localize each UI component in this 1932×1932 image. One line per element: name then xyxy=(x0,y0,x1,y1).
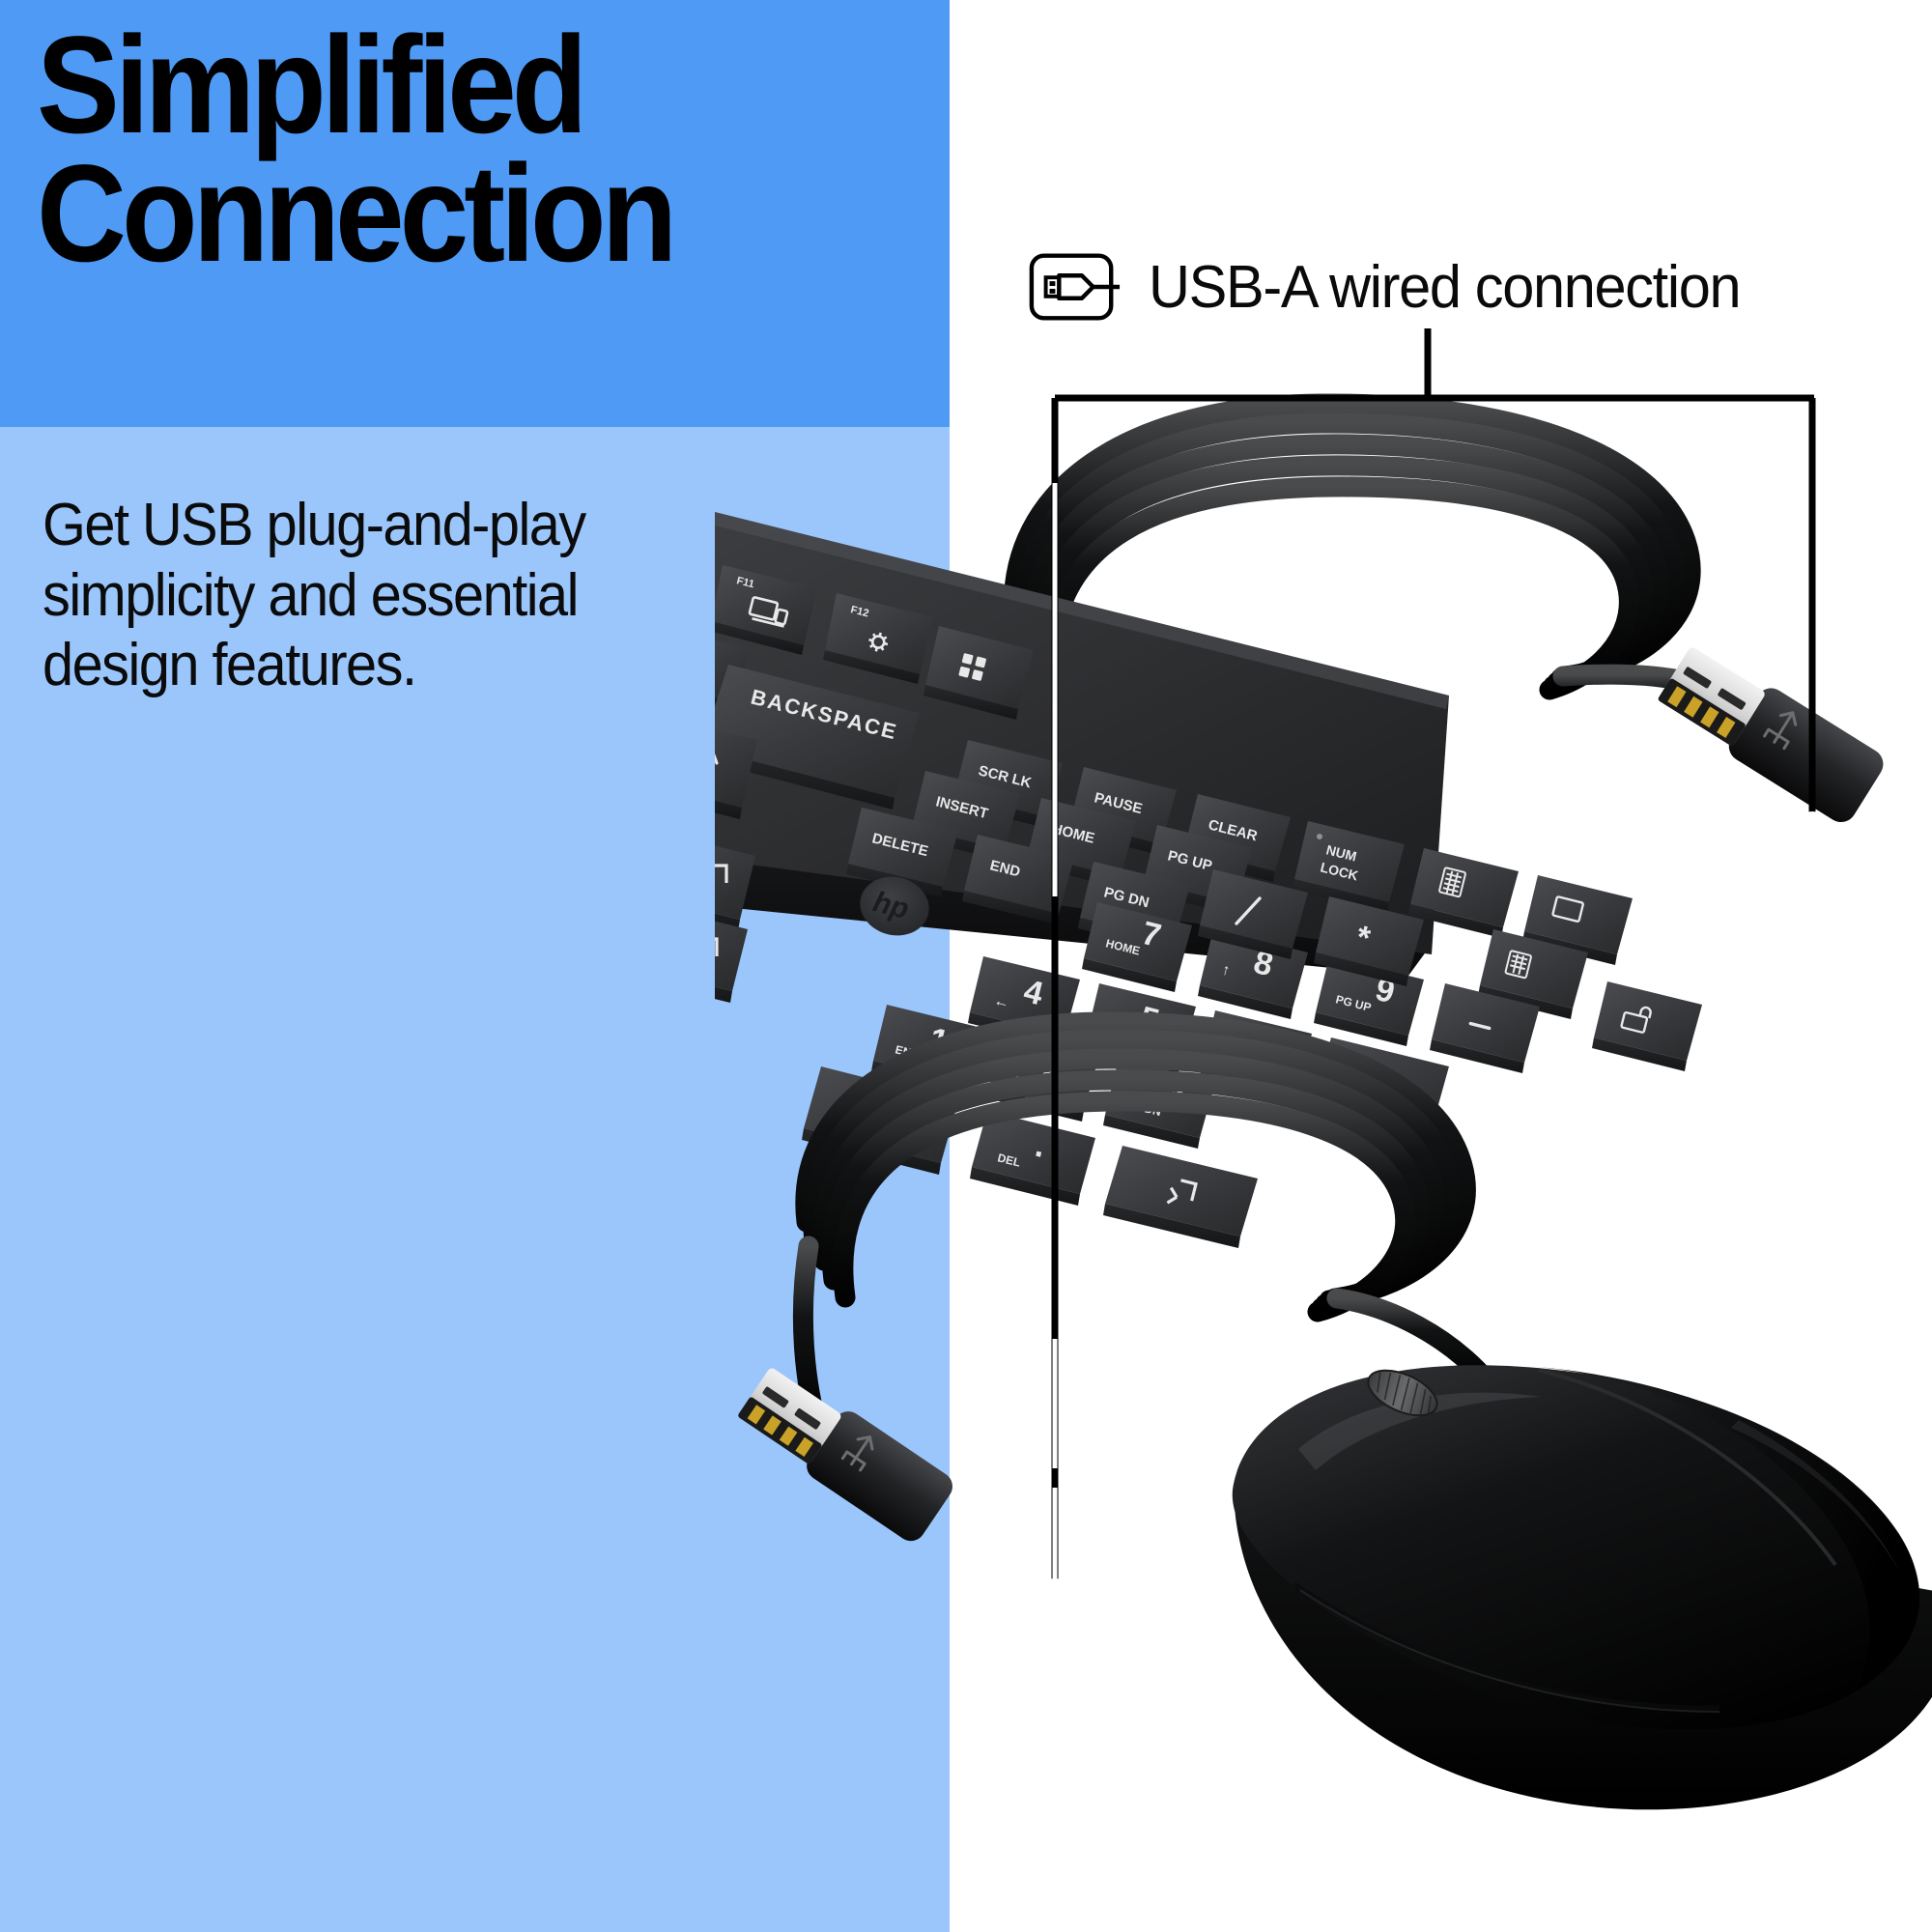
key-5: 5 xyxy=(1084,983,1196,1073)
key-screen xyxy=(1522,875,1633,965)
usb-a-plug-icon xyxy=(1027,240,1122,334)
svg-text:PAUSE: PAUSE xyxy=(1093,789,1144,817)
svg-text:↓: ↓ xyxy=(1011,1067,1023,1085)
keyboard-usb-a-connector xyxy=(1653,639,1889,828)
bracket-endpoint-keyboard xyxy=(1791,811,1833,854)
key-plus-numpad: + xyxy=(1310,1037,1449,1148)
key-6: → 6 xyxy=(1200,1010,1312,1100)
key-num-lock: NUM LOCK xyxy=(1293,821,1405,913)
svg-text:.: . xyxy=(1032,1127,1049,1165)
key-slash xyxy=(1198,869,1308,959)
key-numpad-enter xyxy=(1103,1146,1258,1248)
callout-label: USB-A wired connection xyxy=(1027,240,1765,334)
svg-text:PG DN: PG DN xyxy=(1123,1096,1162,1119)
key-asterisk: * xyxy=(1314,896,1424,986)
svg-text:PG DN: PG DN xyxy=(1102,884,1151,911)
callout-bracket xyxy=(966,328,1932,1681)
svg-text:+: + xyxy=(1362,1081,1386,1116)
key-minus xyxy=(1430,983,1540,1073)
svg-text:5: 5 xyxy=(1136,1000,1163,1039)
page-title: Simplified Connection xyxy=(37,21,845,278)
svg-text:8: 8 xyxy=(1250,944,1277,983)
key-3: PG DN 3 xyxy=(1103,1059,1215,1149)
svg-text:3: 3 xyxy=(1161,1075,1188,1115)
svg-text:CLEAR: CLEAR xyxy=(1207,816,1259,844)
svg-text:DEL: DEL xyxy=(996,1151,1022,1169)
svg-text:9: 9 xyxy=(1372,971,1399,1010)
key-9: PG UP 9 xyxy=(1314,956,1424,1046)
svg-text:PG UP: PG UP xyxy=(1166,847,1213,874)
svg-text:→: → xyxy=(1224,1046,1243,1065)
key-calculator-1 xyxy=(1408,848,1519,938)
svg-text:PG UP: PG UP xyxy=(1334,992,1373,1014)
svg-text:END: END xyxy=(988,857,1022,880)
svg-text:*: * xyxy=(1352,919,1375,957)
key-period: DEL . xyxy=(970,1111,1095,1206)
svg-text:HOME: HOME xyxy=(1104,936,1141,957)
svg-text:LOCK: LOCK xyxy=(1319,859,1359,883)
svg-text:HOME: HOME xyxy=(1050,820,1096,846)
key-8: ↑ 8 xyxy=(1198,929,1308,1019)
key-end: END xyxy=(962,835,1074,924)
svg-text:←: ← xyxy=(992,992,1011,1011)
headline-band: Simplified Connection xyxy=(0,0,950,427)
bracket-endpoint-mouse xyxy=(1034,1578,1076,1621)
mouse-scroll-wheel xyxy=(1362,1361,1444,1425)
svg-text:NUM: NUM xyxy=(1324,841,1358,864)
subhead-band: Get USB plug-and-play simplicity and ess… xyxy=(0,427,950,1932)
mouse-body xyxy=(1233,1365,1932,1809)
key-pause: PAUSE xyxy=(1068,767,1177,855)
key-2: ↓ 2 xyxy=(987,1032,1099,1122)
svg-text:7: 7 xyxy=(1138,915,1165,954)
svg-text:6: 6 xyxy=(1252,1027,1279,1066)
key-home: HOME xyxy=(1026,798,1136,888)
svg-text:4: 4 xyxy=(1020,973,1047,1012)
key-scr-lk: SCR LK xyxy=(952,740,1063,828)
key-pg-up: PG UP xyxy=(1142,825,1252,915)
svg-text:↑: ↑ xyxy=(1220,961,1232,979)
svg-text:SCR LK: SCR LK xyxy=(977,762,1033,791)
svg-text:2: 2 xyxy=(1039,1048,1066,1088)
key-lock xyxy=(1592,981,1702,1071)
info-panel: Simplified Connection Get USB plug-and-p… xyxy=(0,0,950,1932)
key-pg-dn: PG DN xyxy=(1078,862,1190,952)
key-calculator-2 xyxy=(1478,929,1588,1019)
page-description: Get USB plug-and-play simplicity and ess… xyxy=(43,491,743,701)
callout-label-text: USB-A wired connection xyxy=(1149,253,1740,322)
key-4: ← 4 xyxy=(968,956,1080,1046)
key-clear: CLEAR xyxy=(1182,794,1291,882)
key-7: HOME 7 xyxy=(1082,902,1192,992)
